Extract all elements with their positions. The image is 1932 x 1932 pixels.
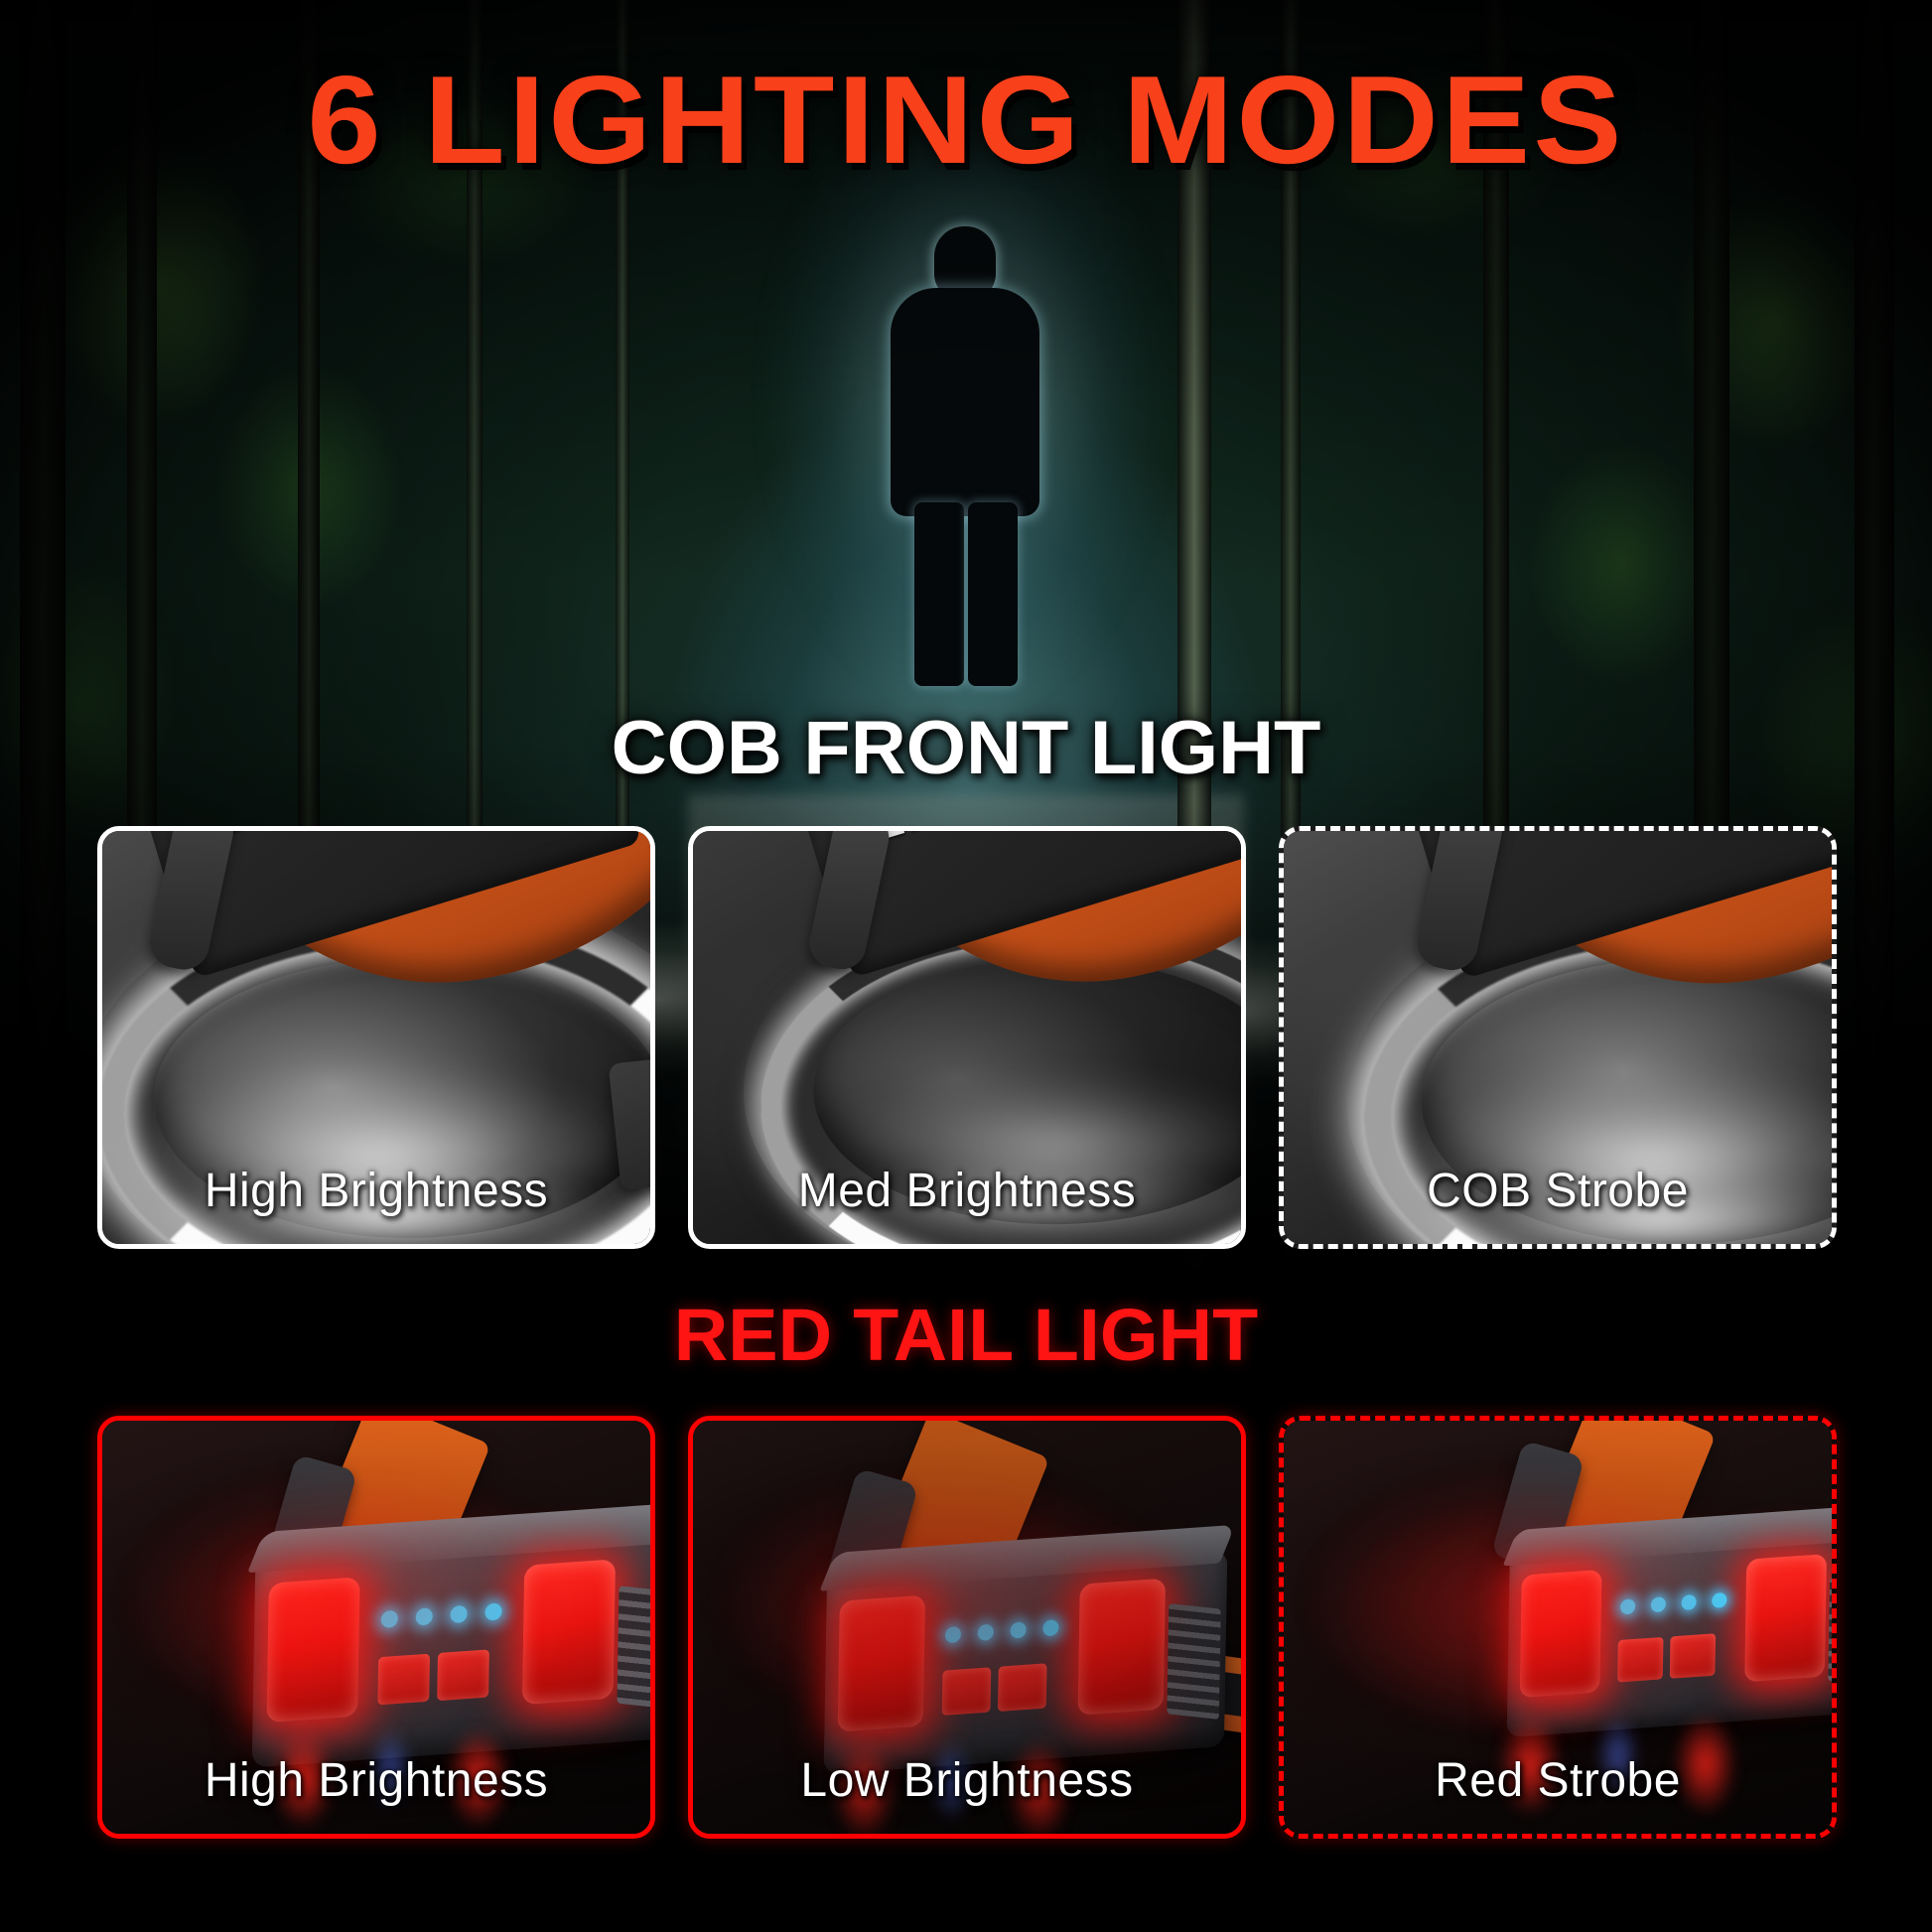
product-feature-poster: 6 LIGHTING MODES COB FRONT LIGHT RED TAI… bbox=[0, 0, 1932, 1932]
mode-card-red-low-brightness[interactable]: HEAD bbox=[688, 1416, 1246, 1839]
red-led-panel-right bbox=[1744, 1554, 1827, 1682]
heat-sink-fins bbox=[617, 1586, 650, 1709]
indicator-led bbox=[1010, 1621, 1026, 1638]
indicator-led bbox=[1620, 1598, 1635, 1614]
mode-label: Low Brightness bbox=[693, 1753, 1241, 1808]
mode-label: Med Brightness bbox=[693, 1164, 1241, 1218]
heat-sink-fins bbox=[1828, 1578, 1832, 1687]
red-mode-card-row: HEAD bbox=[97, 1416, 1837, 1839]
red-led-panel-left bbox=[838, 1595, 926, 1732]
mode-card-red-high-brightness[interactable]: HEAD bbox=[97, 1416, 655, 1839]
poster-headline: 6 LIGHTING MODES bbox=[0, 58, 1932, 183]
indicator-led bbox=[381, 1610, 398, 1628]
mode-card-red-strobe[interactable]: HEAD bbox=[1279, 1416, 1837, 1839]
indicator-led bbox=[484, 1602, 501, 1620]
power-button bbox=[1617, 1637, 1663, 1683]
mode-label: Red Strobe bbox=[1284, 1753, 1832, 1808]
section-heading-red-tail-light: RED TAIL LIGHT bbox=[0, 1299, 1932, 1372]
indicator-led bbox=[1042, 1619, 1058, 1636]
indicator-led bbox=[945, 1626, 961, 1643]
red-led-panel-right bbox=[522, 1559, 616, 1705]
mode-button bbox=[998, 1663, 1047, 1712]
red-led-panel-left bbox=[1520, 1570, 1602, 1698]
indicator-led bbox=[450, 1605, 467, 1623]
heat-sink-fins bbox=[1167, 1603, 1220, 1720]
mode-button bbox=[1670, 1633, 1716, 1679]
mode-label: COB Strobe bbox=[1284, 1164, 1832, 1218]
mode-label: High Brightness bbox=[102, 1164, 650, 1218]
battery-indicator-leds bbox=[381, 1602, 502, 1628]
mode-button bbox=[437, 1649, 489, 1701]
mode-card-cob-med-brightness[interactable]: HEAD Med Brightness bbox=[688, 826, 1246, 1249]
battery-indicator-leds bbox=[945, 1619, 1059, 1643]
mode-card-cob-high-brightness[interactable]: HEAD High Brightness bbox=[97, 826, 655, 1249]
cob-mode-card-row: HEAD High Brightness HEAD bbox=[97, 826, 1837, 1249]
control-buttons bbox=[377, 1649, 489, 1705]
red-led-panel-right bbox=[1077, 1579, 1166, 1716]
indicator-led bbox=[1712, 1592, 1726, 1608]
red-led-panel-left bbox=[266, 1577, 359, 1723]
mode-card-cob-strobe[interactable]: HEAD COB Strobe bbox=[1279, 826, 1837, 1249]
indicator-led bbox=[1651, 1596, 1666, 1612]
indicator-led bbox=[978, 1624, 994, 1641]
section-heading-cob-front-light: COB FRONT LIGHT bbox=[0, 711, 1932, 786]
indicator-led bbox=[1681, 1594, 1696, 1610]
power-button bbox=[942, 1667, 992, 1716]
battery-indicator-leds bbox=[1620, 1592, 1726, 1615]
indicator-led bbox=[416, 1607, 433, 1625]
control-buttons bbox=[942, 1663, 1047, 1716]
control-buttons bbox=[1617, 1633, 1716, 1682]
power-button bbox=[377, 1654, 430, 1706]
mode-label: High Brightness bbox=[102, 1753, 650, 1808]
